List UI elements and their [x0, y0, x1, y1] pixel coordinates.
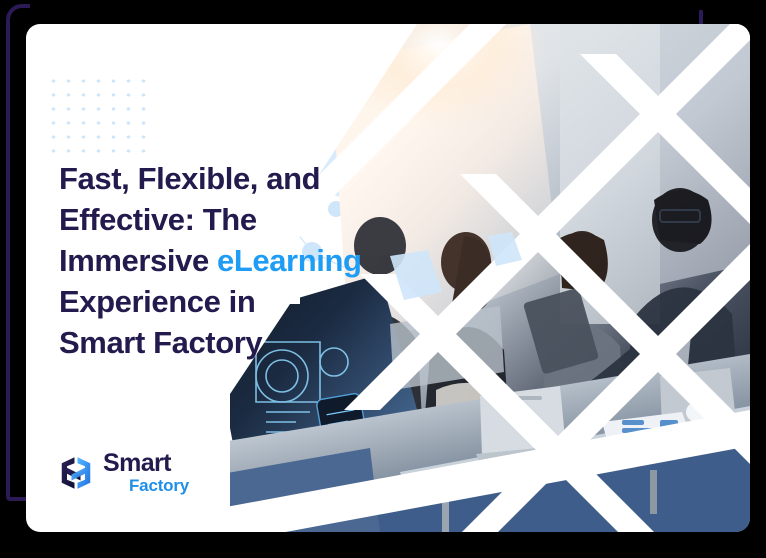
dot-grid-decoration: [44, 72, 152, 154]
frame-mask-top: [30, 0, 706, 10]
headline-accent-elearning: eLearning: [217, 243, 362, 278]
headline-line-3-prefix: Immersive: [59, 243, 217, 278]
brand-logo: Smart Factory: [58, 451, 189, 494]
headline-line-5: Smart Factory: [59, 322, 379, 363]
brand-wordmark: Smart Factory: [103, 451, 189, 494]
smart-factory-s-cube-icon: [58, 455, 94, 491]
slide-canvas: Fast, Flexible, and Effective: The Immer…: [0, 0, 766, 558]
brand-word-factory: Factory: [129, 477, 189, 494]
headline-line-3: Immersive eLearning: [59, 240, 379, 281]
headline-line-2: Effective: The: [59, 199, 379, 240]
page-title: Fast, Flexible, and Effective: The Immer…: [59, 158, 379, 363]
headline-line-1: Fast, Flexible, and: [59, 158, 379, 199]
brand-word-smart: Smart: [103, 451, 189, 476]
headline-line-4: Experience in: [59, 281, 379, 322]
content-card: Fast, Flexible, and Effective: The Immer…: [26, 24, 750, 532]
